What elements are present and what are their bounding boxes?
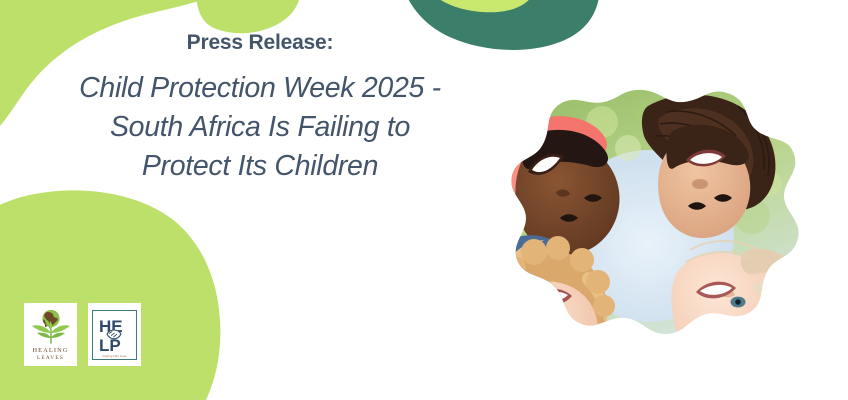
headline-line-3: Protect Its Children	[14, 147, 506, 186]
globe-with-leaves-icon	[28, 307, 74, 347]
page-title: Child Protection Week 2025 - South Afric…	[0, 69, 520, 185]
child-bottom-center	[595, 353, 726, 400]
help-tagline: helping kids cope	[93, 354, 136, 358]
help-logo-frame: HE LP helping kids cope	[92, 310, 137, 360]
clothing-edges	[548, 363, 793, 400]
press-release-banner: Press Release: Child Protection Week 202…	[0, 0, 848, 400]
button	[561, 385, 571, 395]
headline-line-1: Child Protection Week 2025 -	[14, 69, 506, 108]
help-wordmark-and-handshake-icon: HE LP	[93, 313, 136, 357]
healing-leaves-wordmark: HEALING LEAVES	[32, 347, 68, 362]
top-center-light-green-blob	[196, 0, 301, 33]
eyebrow-label: Press Release:	[0, 30, 520, 55]
bottom-left-light-green-blob	[0, 190, 220, 400]
top-right-green-sliver	[432, 0, 536, 12]
healing-leaves-word-top: HEALING	[32, 347, 68, 354]
striped-shirt	[500, 275, 552, 312]
help-line-bottom: LP	[99, 336, 121, 355]
logo-row: HEALING LEAVES HE LP helping kids cope	[24, 303, 141, 366]
hair-beads	[596, 368, 712, 400]
healing-leaves-word-bottom: LEAVES	[32, 355, 68, 362]
headline-block: Press Release: Child Protection Week 202…	[0, 30, 520, 185]
child-right	[671, 241, 803, 365]
logo-healing-leaves[interactable]: HEALING LEAVES	[24, 303, 77, 366]
braids	[600, 374, 714, 400]
hair-beads	[671, 334, 696, 351]
logo-help[interactable]: HE LP helping kids cope	[88, 303, 141, 366]
handshake-icon	[107, 330, 121, 339]
headline-line-2: South Africa Is Failing to	[14, 108, 506, 147]
